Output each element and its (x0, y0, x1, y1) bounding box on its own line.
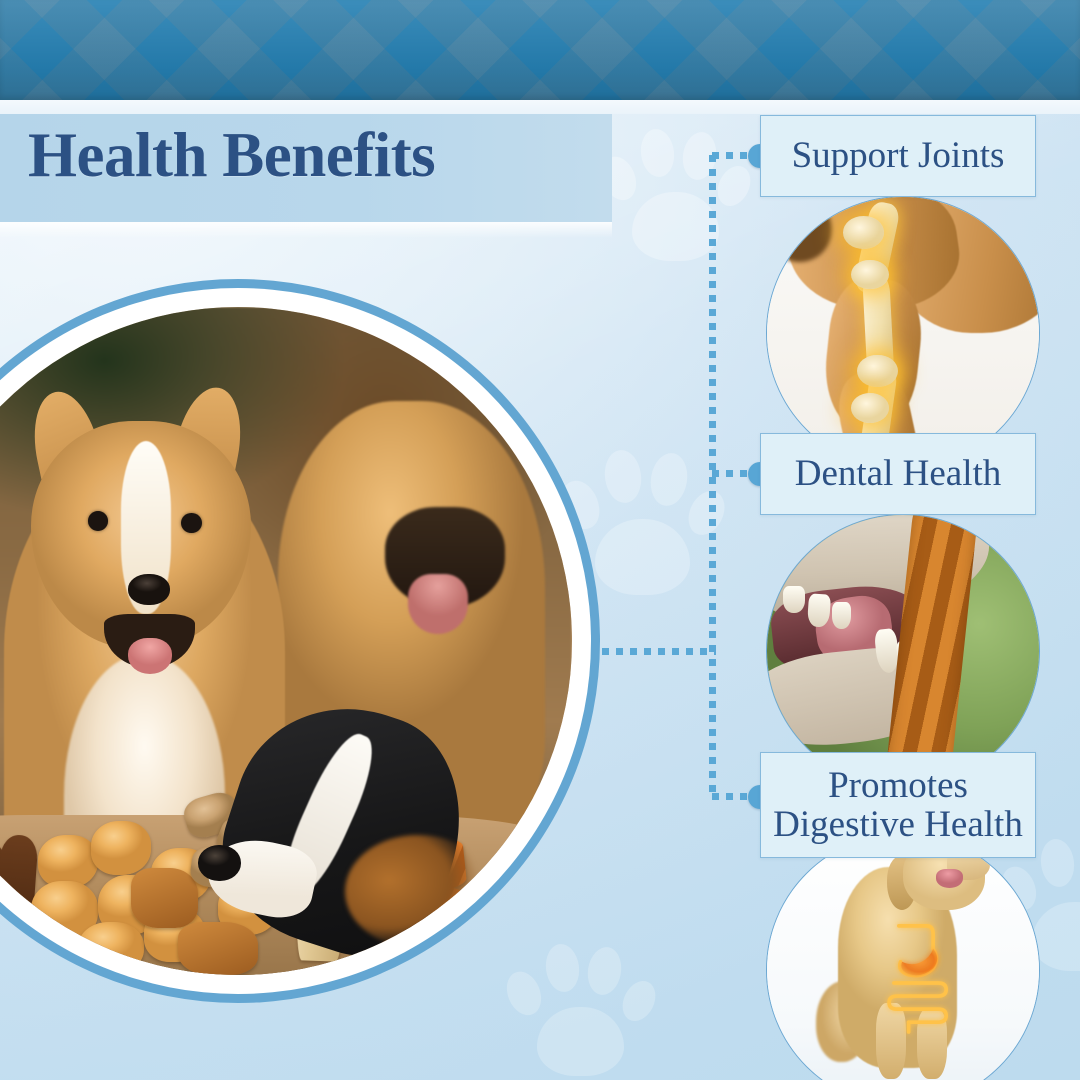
title-band-shadow (0, 222, 612, 238)
banner-edge (0, 100, 1080, 114)
benefit-label-promotes-digestive-health[interactable]: Promotes Digestive Health (760, 752, 1036, 858)
dogs-with-treats-photo (0, 307, 572, 975)
banner-sheen (0, 0, 1080, 100)
page-title: Health Benefits (28, 124, 435, 187)
benefit-label-dental-health[interactable]: Dental Health (760, 433, 1036, 515)
dog-digestive-system-photo (766, 833, 1040, 1080)
benefit-label-line-1: Promotes (773, 766, 1023, 805)
benefit-label-line-2: Digestive Health (773, 805, 1023, 844)
benefit-label-support-joints[interactable]: Support Joints (760, 115, 1036, 197)
digestive-tract-overlay-icon (876, 921, 958, 1035)
hero-photo-circle (0, 288, 591, 994)
argyle-banner (0, 0, 1080, 100)
connector-branch-hero (588, 648, 716, 655)
benefit-label-text-block: Promotes Digestive Health (771, 766, 1025, 844)
dog-joint-bones-photo (766, 196, 1040, 470)
benefit-label-text: Dental Health (795, 454, 1002, 493)
paw-print-watermark (600, 120, 750, 270)
connector-vertical-line (709, 155, 716, 799)
benefit-label-text: Support Joints (792, 136, 1005, 175)
dog-teeth-chew-photo (766, 514, 1040, 788)
hero-photo-inner (0, 307, 572, 975)
infographic-poster: Health Benefits (0, 0, 1080, 1080)
